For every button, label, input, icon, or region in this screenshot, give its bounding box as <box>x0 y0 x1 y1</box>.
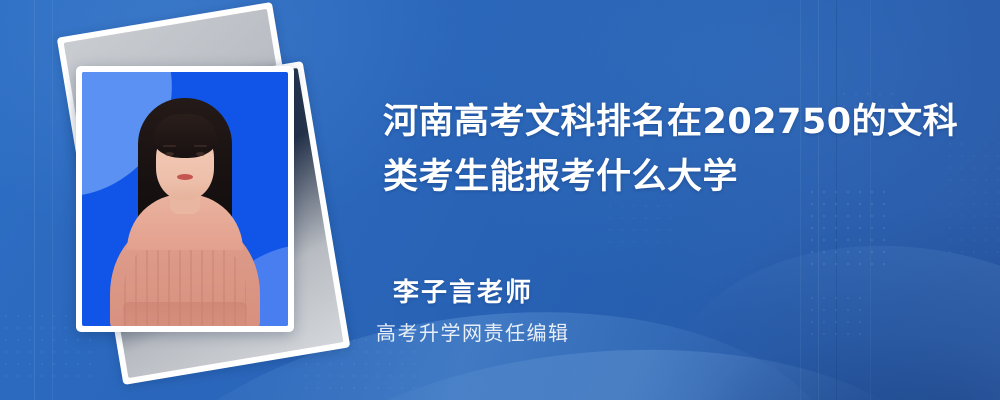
portrait-hair-front <box>153 114 217 158</box>
author-photo-stack <box>36 14 356 384</box>
article-author-banner: 河南高考文科排名在202750的文科 类考生能报考什么大学 李子言老师 高考升学… <box>0 0 1000 400</box>
author-photo-card <box>76 66 294 332</box>
author-role: 高考升学网责任编辑 <box>376 317 570 346</box>
portrait-eye-right <box>196 152 205 156</box>
portrait-eye-left <box>165 152 174 156</box>
portrait-illustration <box>82 72 288 326</box>
author-name: 李子言老师 <box>393 272 533 309</box>
portrait-lips <box>177 174 193 180</box>
banner-text-column: 河南高考文科排名在202750的文科 类考生能报考什么大学 李子言老师 高考升学… <box>376 0 976 400</box>
portrait-eyebrow-right <box>194 145 207 148</box>
portrait-waistband <box>123 302 247 326</box>
portrait-eyebrow-left <box>163 145 176 148</box>
article-title-line-2: 类考生能报考什么大学 <box>383 150 963 205</box>
author-photo <box>82 72 288 326</box>
article-title: 河南高考文科排名在202750的文科 类考生能报考什么大学 <box>383 95 963 205</box>
article-title-line-1: 河南高考文科排名在202750的文科 <box>383 95 963 150</box>
